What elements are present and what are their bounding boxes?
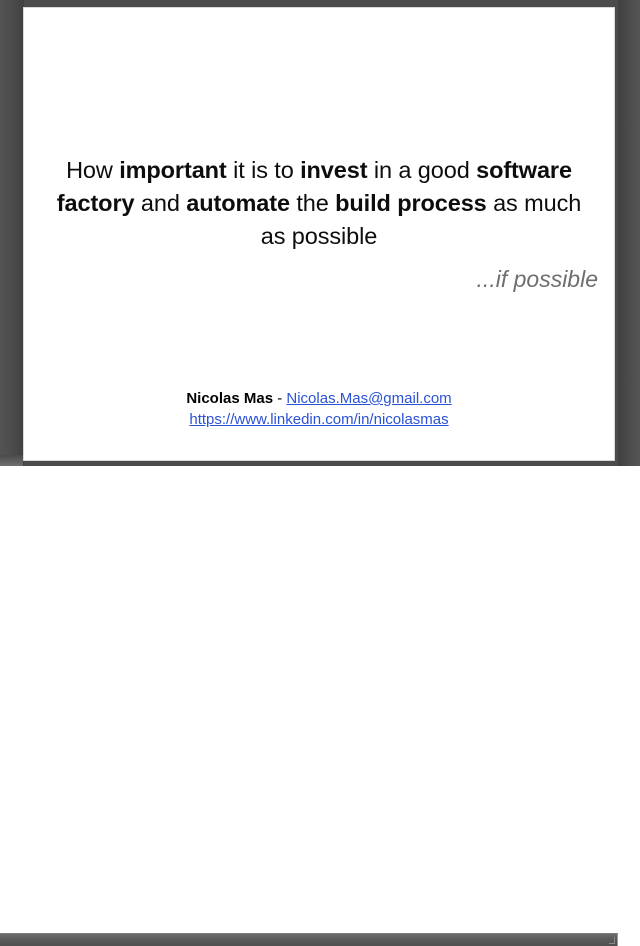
slide-heading: How important it is to invest in a good … <box>42 154 596 253</box>
horizontal-scrollbar-track[interactable] <box>0 466 640 480</box>
heading-segment-5: in a good <box>367 157 476 183</box>
slide-footer: Nicolas Mas - Nicolas.Mas@gmail.com http… <box>24 388 614 430</box>
heading-segment-10: build process <box>335 190 487 216</box>
horizontal-scrollbar-thumb[interactable] <box>0 933 618 946</box>
slide-canvas: How important it is to invest in a good … <box>24 8 614 460</box>
footer-linkedin-link[interactable]: https://www.linkedin.com/in/nicolasmas <box>189 411 448 428</box>
heading-segment-9: the <box>290 190 335 216</box>
presentation-viewer: How important it is to invest in a good … <box>0 0 640 480</box>
heading-segment-8: automate <box>186 190 290 216</box>
footer-email-link[interactable]: Nicolas.Mas@gmail.com <box>286 390 451 407</box>
footer-linkedin-line: https://www.linkedin.com/in/nicolasmas <box>24 409 614 430</box>
slide-subline: ...if possible <box>42 266 598 293</box>
heading-segment-4: invest <box>300 157 367 183</box>
frame-bottom-cap <box>0 455 23 466</box>
heading-segment-3: it is to <box>227 157 300 183</box>
heading-segment-2: important <box>119 157 226 183</box>
heading-segment-7: and <box>134 190 186 216</box>
heading-segment-1: How <box>66 157 119 183</box>
footer-author-line: Nicolas Mas - Nicolas.Mas@gmail.com <box>24 388 614 409</box>
footer-author-name: Nicolas Mas <box>186 390 273 407</box>
footer-separator: - <box>273 390 286 407</box>
